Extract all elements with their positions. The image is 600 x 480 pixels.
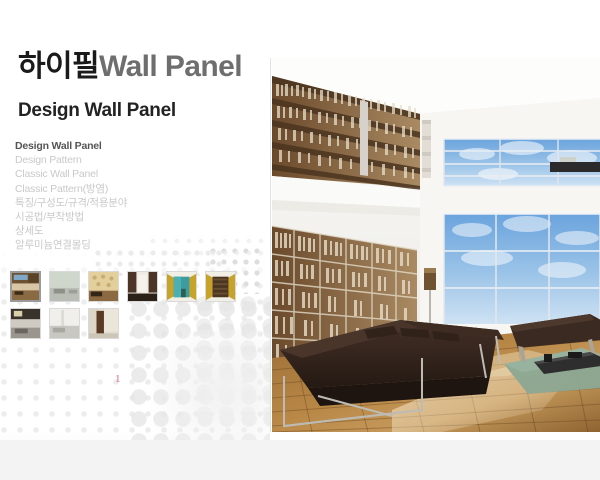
nav-item-5[interactable]: 시공법/부착방법 <box>15 210 235 224</box>
slide-page: 하이필Wall Panel Design Wall Panel Design W… <box>0 0 600 480</box>
nav-item-3[interactable]: Classic Pattern(방염) <box>15 182 235 196</box>
page-bottom-bar-left <box>0 440 270 480</box>
thumbnail-dark-panel-entry[interactable] <box>127 271 158 302</box>
thumbnail-row-2 <box>10 308 240 339</box>
thumbnail-library-interior[interactable] <box>10 271 41 302</box>
thumbnail-wood-panel-booth[interactable] <box>205 271 236 302</box>
thumbnail-patterned-beige-wall[interactable] <box>88 271 119 302</box>
nav-item-7[interactable]: 알루미늄연결몰딩 <box>15 238 235 252</box>
nav-item-0[interactable]: Design Wall Panel <box>15 139 235 153</box>
thumbnail-white-texture-room[interactable] <box>49 308 80 339</box>
nav-item-6[interactable]: 상세도 <box>15 224 235 238</box>
main-image-frame <box>270 58 600 432</box>
thumbnail-row-1 <box>10 271 240 302</box>
library-living-room-render[interactable] <box>272 58 600 432</box>
nav-item-4[interactable]: 특징/구성도/규격/적용분야 <box>15 196 235 210</box>
nav-item-1[interactable]: Design Pattern <box>15 153 235 167</box>
page-number: 1 <box>115 374 121 385</box>
page-subtitle: Design Wall Panel <box>18 101 176 120</box>
page-title: 하이필Wall Panel <box>18 52 242 82</box>
thumbnail-gallery <box>10 271 240 345</box>
page-title-korean: 하이필 <box>18 50 99 83</box>
thumbnail-dark-ceiling-room[interactable] <box>10 308 41 339</box>
page-title-english: Wall Panel <box>99 50 242 83</box>
section-nav-list: Design Wall PanelDesign PatternClassic W… <box>15 139 235 253</box>
nav-item-2[interactable]: Classic Wall Panel <box>15 167 235 181</box>
thumbnail-teal-panel-booth[interactable] <box>166 271 197 302</box>
thumbnail-light-panel-room[interactable] <box>49 271 80 302</box>
thumbnail-wood-door-corridor[interactable] <box>88 308 119 339</box>
